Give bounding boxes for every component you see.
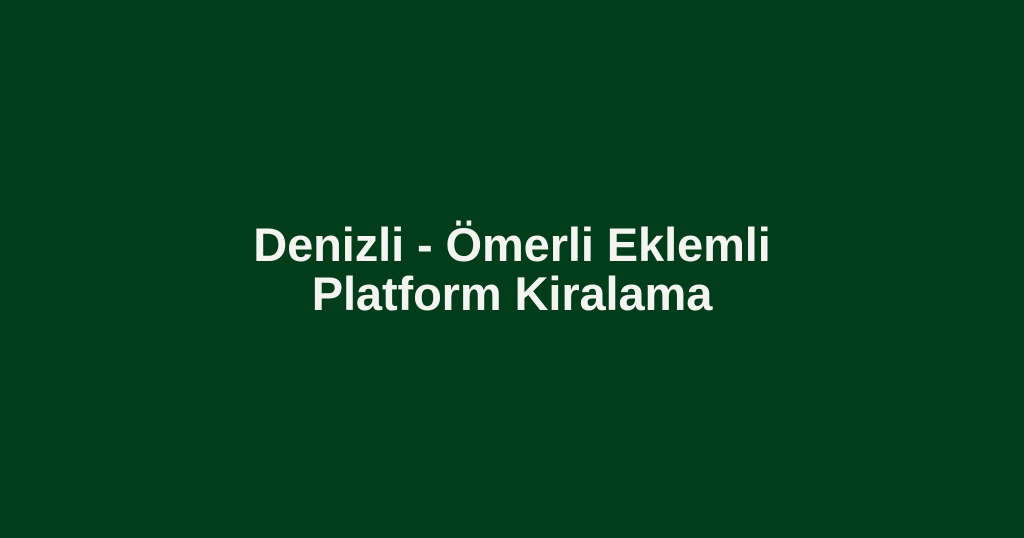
share-card-canvas: Denizli - Ömerli Eklemli Platform Kirala… bbox=[0, 0, 1024, 538]
page-title: Denizli - Ömerli Eklemli Platform Kirala… bbox=[152, 220, 872, 318]
title-container: Denizli - Ömerli Eklemli Platform Kirala… bbox=[0, 0, 1024, 538]
